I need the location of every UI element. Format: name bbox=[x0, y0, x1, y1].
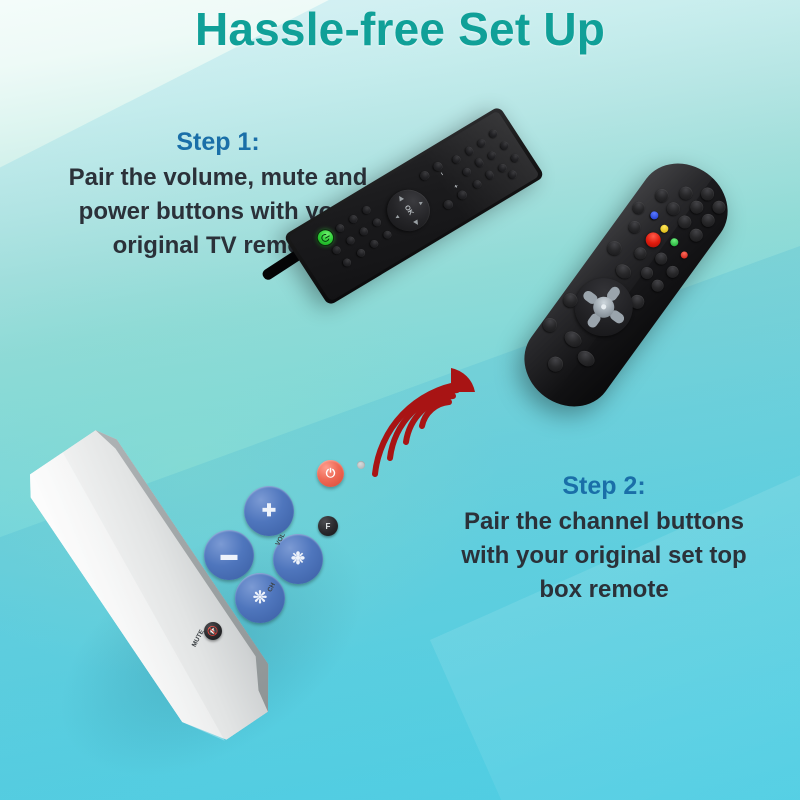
sky-remote-button-t2[interactable] bbox=[710, 198, 728, 216]
tv-remote-button-l1[interactable] bbox=[361, 205, 372, 216]
tv-remote-button-l4[interactable] bbox=[348, 214, 359, 225]
page-title: Hassle-free Set Up bbox=[0, 2, 800, 56]
step-2-line-3: box remote bbox=[416, 573, 792, 607]
white-remote-volume-down-button[interactable]: ▬ bbox=[204, 530, 254, 580]
tv-remote-button-l3[interactable] bbox=[382, 229, 393, 240]
original-set-top-box-remote bbox=[520, 165, 800, 415]
universal-big-button-remote: ⏻ F ✚ ▬ ❉ ❊ VOL CH 🔇 MUTE bbox=[18, 430, 418, 790]
signal-wedge-icon bbox=[451, 368, 475, 392]
dpad-ok-label: OK bbox=[403, 204, 415, 216]
tv-remote-button-l2[interactable] bbox=[371, 217, 382, 228]
sky-remote-button-t9[interactable] bbox=[687, 226, 705, 244]
step-2-block: Step 2: Pair the channel buttons with yo… bbox=[416, 472, 792, 607]
sky-remote-red-button[interactable] bbox=[679, 250, 689, 260]
tv-remote-button-tv[interactable] bbox=[331, 245, 342, 256]
tv-remote-button-l6[interactable] bbox=[369, 238, 380, 249]
sky-remote-button-t5[interactable] bbox=[699, 211, 717, 229]
sky-remote-gloss bbox=[508, 146, 713, 401]
tv-remote-button-l8[interactable] bbox=[345, 235, 356, 246]
step-2-line-2: with your original set top bbox=[416, 539, 792, 573]
sky-remote-button-m7[interactable] bbox=[649, 277, 666, 294]
tv-remote-button-l9[interactable] bbox=[355, 248, 366, 259]
dpad-up-arrow-icon: ▲ bbox=[416, 199, 424, 207]
sky-remote-button-m4[interactable] bbox=[664, 264, 681, 281]
tv-remote-button-l5[interactable] bbox=[358, 226, 369, 237]
dpad-down-arrow-icon: ▼ bbox=[392, 214, 400, 222]
white-remote-led-indicator bbox=[357, 461, 365, 469]
white-remote-channel-down-button[interactable]: ❊ bbox=[235, 573, 285, 623]
sky-remote-green-button[interactable] bbox=[669, 237, 680, 248]
tv-remote-button-ch-down[interactable] bbox=[419, 170, 431, 182]
infographic-canvas: Hassle-free Set Up Step 1: Pair the volu… bbox=[0, 0, 800, 800]
white-remote-function-button[interactable]: F bbox=[318, 516, 338, 536]
step-1-label: Step 1: bbox=[18, 128, 418, 157]
dpad-right-arrow-icon: ▶ bbox=[412, 219, 421, 226]
white-remote-volume-up-button[interactable]: ✚ bbox=[244, 486, 294, 536]
tv-remote-button-av[interactable] bbox=[341, 257, 352, 268]
white-remote-power-button[interactable]: ⏻ bbox=[317, 460, 344, 487]
step-2-line-1: Pair the channel buttons bbox=[416, 505, 792, 539]
tv-remote-button-l7[interactable] bbox=[335, 223, 346, 234]
sky-remote-body bbox=[508, 146, 745, 423]
white-remote-mute-button[interactable]: 🔇 bbox=[204, 622, 222, 640]
step-2-text: Pair the channel buttons with your origi… bbox=[416, 505, 792, 607]
dpad-left-arrow-icon: ◀ bbox=[396, 194, 405, 201]
